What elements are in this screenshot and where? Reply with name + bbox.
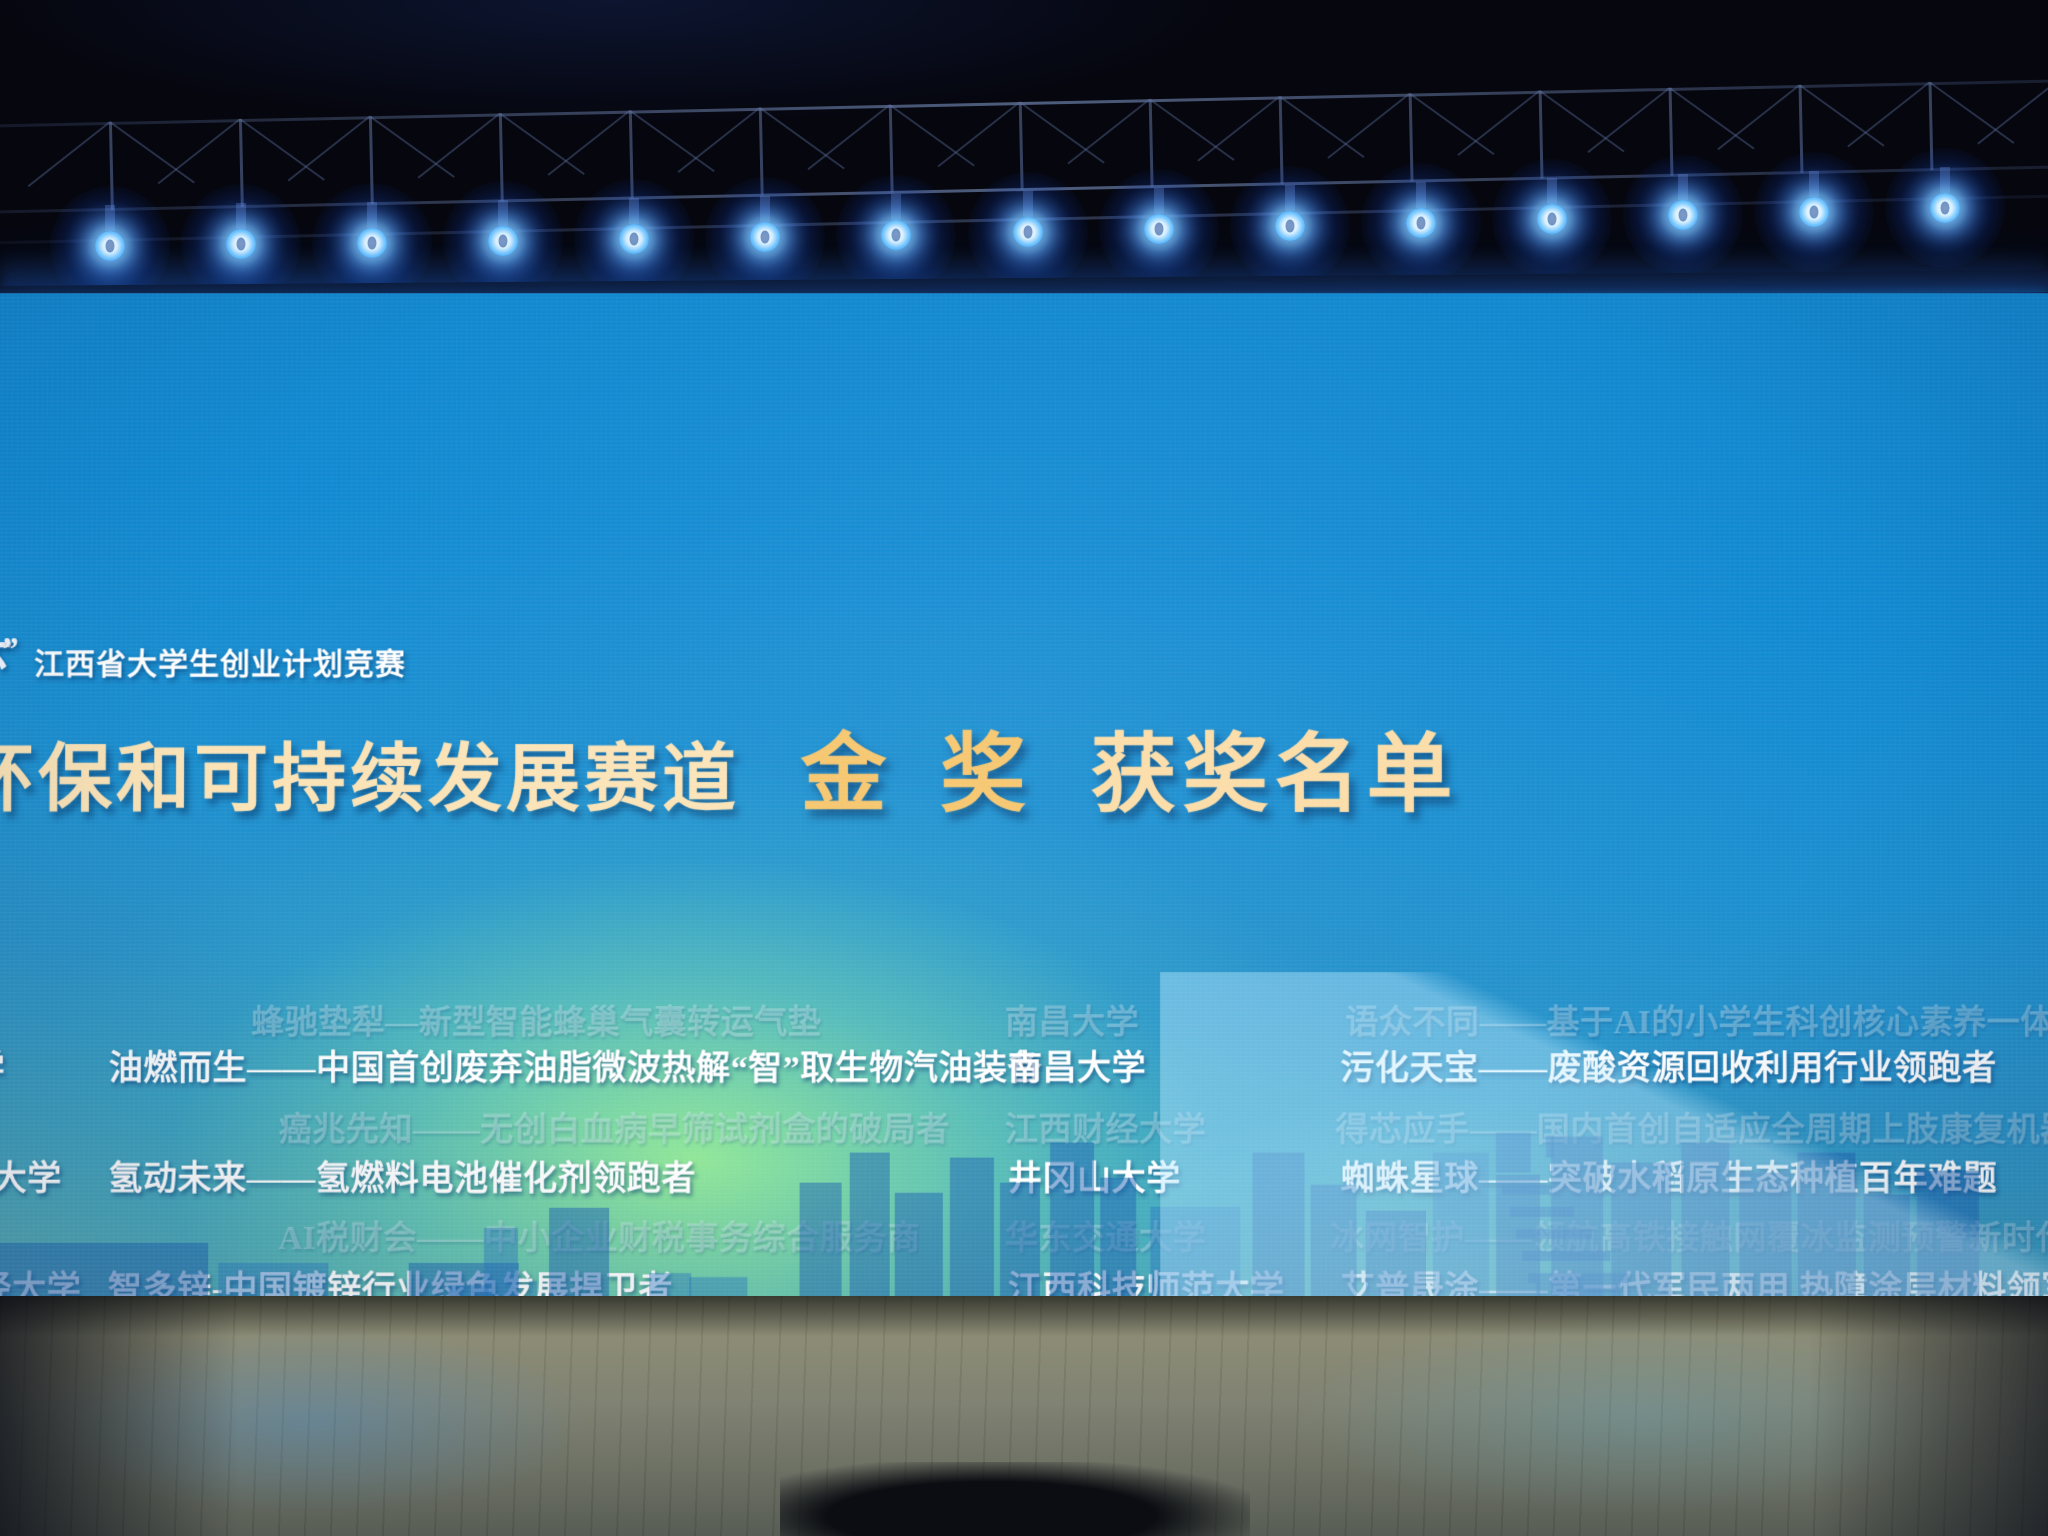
stage-light-7 xyxy=(881,220,911,250)
truss-brace xyxy=(1669,87,1755,149)
award-project: 蜘蛛星球——突破水稻原生态种植百年难题 xyxy=(1341,1151,1998,1200)
foreground-silhouette xyxy=(780,1462,1250,1536)
truss-brace xyxy=(807,104,890,170)
award-name: 金 奖 xyxy=(800,704,1042,829)
award-university: 华东交通大学 xyxy=(1005,1211,1206,1259)
stage-light-1 xyxy=(95,231,125,261)
stage-light-8 xyxy=(1013,217,1043,247)
truss-brace xyxy=(1539,90,1625,152)
truss-brace xyxy=(629,110,715,172)
award-project: 油燃而生——中国首创废弃油脂微波热解“智”取生物汽油装备 xyxy=(109,1040,1042,1089)
award-university: 井冈山大学 xyxy=(1008,1151,1181,1200)
lamp-lens xyxy=(1809,205,1818,218)
award-title-row: 环保和可持续发展赛道 金 奖 获奖名单 xyxy=(0,704,1660,829)
truss-brace xyxy=(109,121,195,183)
award-university: 学 xyxy=(0,1040,5,1089)
stage-light-14 xyxy=(1799,197,1829,227)
award-project: 得芯应手——国内首创自适应全周期上肢康复机器人 xyxy=(1335,1102,2048,1150)
truss-brace xyxy=(288,115,371,181)
stage-photo: 杯” 江西省大学生创业计划竞赛 环保和可持续发展赛道 金 奖 获奖名单 蜂驰垫犁… xyxy=(0,0,2048,1536)
truss-brace xyxy=(1457,90,1540,156)
stage-light-9 xyxy=(1144,214,1174,244)
award-project: 蜂驰垫犁—新型智能蜂巢气囊转运气垫 xyxy=(251,995,821,1043)
truss-brace xyxy=(28,121,111,187)
stage-light-12 xyxy=(1537,204,1567,234)
award-project: AI税财会——中小企业财税事务综合服务商 xyxy=(278,1211,920,1259)
lamp-lens xyxy=(368,236,377,249)
award-project: 癌兆先知——无创白血病早筛试剂盒的破局者 xyxy=(279,1102,950,1150)
stage-light-2 xyxy=(226,229,256,259)
truss-brace xyxy=(1717,84,1800,150)
stage-light-11 xyxy=(1406,208,1436,238)
lamp-lens xyxy=(630,233,639,246)
award-list: 蜂驰垫犁—新型智能蜂巢气囊转运气垫癌兆先知——无创白血病早筛试剂盒的破局者AI税… xyxy=(0,832,2048,1303)
lamp-lens xyxy=(1547,213,1556,226)
truss-brace xyxy=(1279,96,1365,158)
truss-brace xyxy=(1847,81,1930,147)
truss-brace xyxy=(369,115,455,177)
truss-brace xyxy=(158,118,241,184)
stage-light-10 xyxy=(1275,211,1305,241)
award-project: 氢动未来——氢燃料电池催化剂领跑者 xyxy=(108,1151,696,1200)
lamp-lens xyxy=(1285,219,1294,232)
truss-brace xyxy=(1929,81,2015,143)
stage-light-6 xyxy=(750,222,780,252)
lamp-lens xyxy=(237,238,246,251)
vignette-left xyxy=(0,1296,240,1536)
award-university: 江西财经大学 xyxy=(1005,1102,1206,1150)
truss-brace xyxy=(1019,101,1105,163)
truss-brace xyxy=(677,107,760,173)
stage-light-4 xyxy=(488,226,518,256)
truss-brace xyxy=(759,107,845,169)
lamp-lens xyxy=(761,230,770,243)
truss-brace xyxy=(1799,84,1885,146)
truss-brace xyxy=(1977,79,2048,145)
truss-brace xyxy=(548,110,631,176)
truss-brace xyxy=(1587,87,1670,153)
lamp-lens xyxy=(1941,201,1950,214)
truss-brace xyxy=(499,113,585,175)
award-university: 范大学 xyxy=(0,1151,62,1200)
organization-label: 江西省大学生创业计划竞赛 xyxy=(34,639,406,683)
lamp-lens xyxy=(1154,223,1163,236)
quote-mark: ” xyxy=(1,631,20,669)
banner-header: 杯” 江西省大学生创业计划竞赛 xyxy=(0,622,590,697)
truss-brace xyxy=(1409,93,1495,155)
lamp-lens xyxy=(106,240,115,253)
truss-brace xyxy=(1067,98,1150,164)
truss-brace xyxy=(239,118,325,180)
award-project: 语众不同——基于AI的小学生科创核心素养一体化原 xyxy=(1345,995,2048,1043)
lamp-lens xyxy=(892,228,901,241)
award-project: 污化天宝——废酸资源回收利用行业领跑者 xyxy=(1340,1040,1996,1089)
truss-brace xyxy=(1197,96,1280,162)
lamp-lens xyxy=(1416,216,1425,229)
list-label: 获奖名单 xyxy=(1090,704,1458,829)
truss-brace xyxy=(418,113,501,179)
stage-light-15 xyxy=(1930,193,1960,223)
truss-brace xyxy=(937,101,1020,167)
award-project: 冰网智护——领航高铁接触网覆冰监测预警新时代 xyxy=(1331,1211,2048,1259)
award-university: 南昌大学 xyxy=(1005,995,1139,1043)
lamp-lens xyxy=(1023,225,1032,238)
truss-brace xyxy=(1327,93,1410,159)
lamp-lens xyxy=(499,235,508,248)
stage-light-3 xyxy=(357,228,387,258)
truss-brace xyxy=(889,104,975,166)
led-screen: 杯” 江西省大学生创业计划竞赛 环保和可持续发展赛道 金 奖 获奖名单 蜂驰垫犁… xyxy=(0,293,2048,1303)
stage-light-5 xyxy=(619,224,649,254)
truss-brace xyxy=(1149,98,1235,160)
vignette-right xyxy=(1808,1296,2048,1536)
lamp-lens xyxy=(1678,209,1687,222)
stage-light-13 xyxy=(1668,200,1698,230)
award-university: 南昌大学 xyxy=(1008,1040,1146,1089)
track-title: 环保和可持续发展赛道 xyxy=(0,719,740,826)
